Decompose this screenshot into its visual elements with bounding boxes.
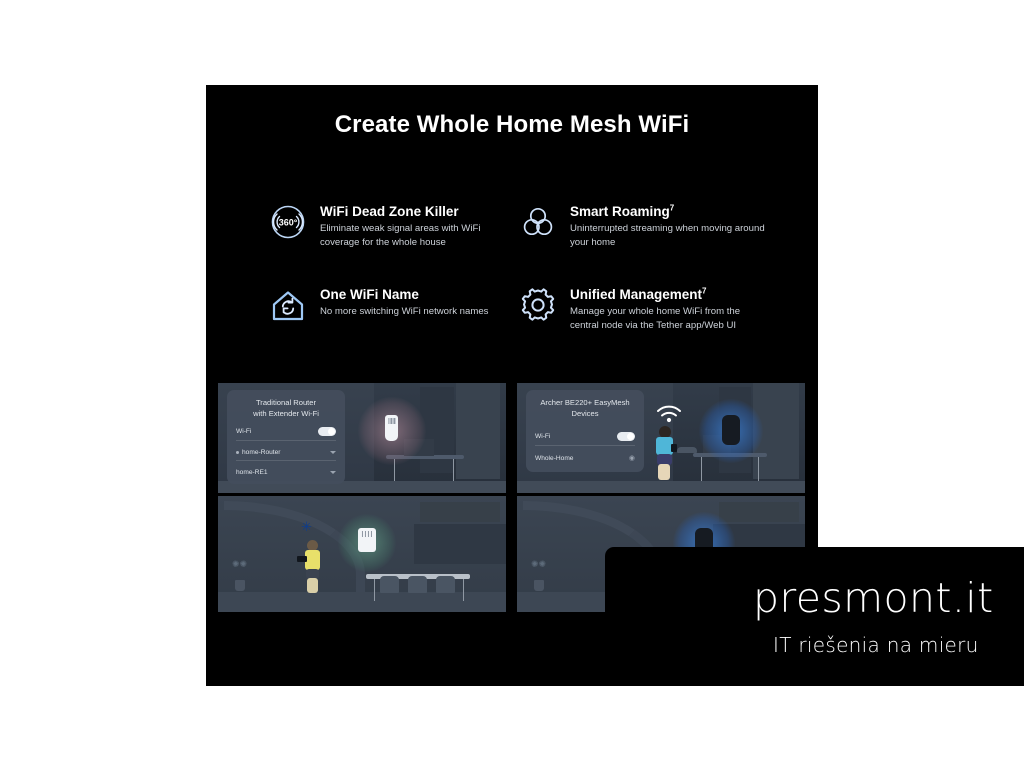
stool <box>677 447 697 453</box>
person-torso <box>305 550 320 570</box>
potted-plant: ✺✺ <box>232 558 248 592</box>
upper-cabinet <box>719 502 799 522</box>
potted-plant: ✺✺ <box>531 558 547 592</box>
kitchen-counter <box>414 524 506 564</box>
chair <box>436 576 455 593</box>
watermark-tagline: IT riešenia na mieru <box>773 633 979 657</box>
chevron-down-icon[interactable] <box>330 471 336 474</box>
feature-unified-management: Unified Management7 Manage your whole ho… <box>516 286 766 332</box>
feature-footnote: 7 <box>670 204 674 213</box>
feature-text: WiFi Dead Zone Killer Eliminate weak sig… <box>320 203 516 249</box>
feature-title: WiFi Dead Zone Killer <box>320 204 516 219</box>
feature-title: Unified Management7 <box>570 287 766 302</box>
feature-description: Eliminate weak signal areas with WiFi co… <box>320 222 516 249</box>
cabinet <box>456 383 500 479</box>
screenshot-canvas: Create Whole Home Mesh WiFi 360° <box>0 0 1024 768</box>
mesh-node-device <box>722 415 740 445</box>
tablet <box>297 556 307 562</box>
settings-card-easymesh[interactable]: Archer BE220+ EasyMesh Devices Wi-Fi Who… <box>526 390 644 472</box>
panel-traditional-router: Traditional Router with Extender Wi-Fi W… <box>218 383 506 612</box>
card-title: Archer BE220+ EasyMesh Devices <box>535 397 635 419</box>
range-extender-device <box>385 415 398 441</box>
upper-cabinet <box>420 502 500 522</box>
chair <box>408 576 427 593</box>
feature-text: Unified Management7 Manage your whole ho… <box>570 286 766 332</box>
scene-traditional-top: Traditional Router with Extender Wi-Fi W… <box>218 383 506 493</box>
network-name: home-Router <box>236 449 280 456</box>
feature-smart-roaming: Smart Roaming7 Uninterrupted streaming w… <box>516 203 766 249</box>
house-sync-icon <box>266 283 310 327</box>
feature-text: Smart Roaming7 Uninterrupted streaming w… <box>570 203 766 249</box>
feature-one-wifi-name: One WiFi Name No more switching WiFi net… <box>266 286 516 332</box>
feature-row: One WiFi Name No more switching WiFi net… <box>266 286 766 332</box>
feature-description: Manage your whole home WiFi from the cen… <box>570 305 766 332</box>
feature-grid: 360° WiFi Dead Zone Killer Eliminate wea… <box>266 203 766 333</box>
network-row[interactable]: home-Router <box>236 449 336 461</box>
feature-title: Smart Roaming7 <box>570 204 766 219</box>
page-title: Create Whole Home Mesh WiFi <box>206 111 818 139</box>
wifi-signal-icon: ◉ <box>629 454 635 462</box>
wifi-toggle[interactable] <box>318 427 336 436</box>
feature-title: One WiFi Name <box>320 287 488 302</box>
network-name: Whole-Home <box>535 455 573 462</box>
feature-wifi-dead-zone-killer: 360° WiFi Dead Zone Killer Eliminate wea… <box>266 203 516 249</box>
no-signal-burst-icon: ✳ <box>301 520 312 533</box>
network-name: home-RE1 <box>236 469 268 476</box>
person-with-tablet: ✳ <box>302 532 324 598</box>
smart-roaming-trefoil-icon <box>516 200 560 244</box>
watermark-brand: presmont.it <box>753 574 994 622</box>
person-legs <box>307 578 318 593</box>
device-antenna-slots <box>388 418 395 424</box>
router-device <box>358 528 376 552</box>
wifi-signal-icon <box>655 405 683 428</box>
wifi-toggle-row[interactable]: Wi-Fi <box>236 427 336 441</box>
wifi-label: Wi-Fi <box>535 433 550 440</box>
scene-easymesh-top: Archer BE220+ EasyMesh Devices Wi-Fi Who… <box>517 383 805 493</box>
feature-row: 360° WiFi Dead Zone Killer Eliminate wea… <box>266 203 766 249</box>
gear-icon <box>516 283 560 327</box>
chair <box>380 576 399 593</box>
watermark-overlay: presmont.it IT riešenia na mieru <box>605 547 1024 686</box>
wifi-360-icon: 360° <box>266 200 310 244</box>
feature-description: No more switching WiFi network names <box>320 305 488 319</box>
person-seated-with-phone <box>653 419 679 485</box>
wifi-toggle-row[interactable]: Wi-Fi <box>535 432 635 446</box>
wifi-label: Wi-Fi <box>236 428 251 435</box>
feature-description: Uninterrupted streaming when moving arou… <box>570 222 766 249</box>
settings-card-traditional[interactable]: Traditional Router with Extender Wi-Fi W… <box>227 390 345 484</box>
network-row[interactable]: home-RE1 <box>236 469 336 480</box>
card-title: Traditional Router with Extender Wi-Fi <box>236 397 336 419</box>
person-legs <box>658 464 670 480</box>
feature-footnote: 7 <box>702 287 706 296</box>
feature-text: One WiFi Name No more switching WiFi net… <box>320 286 488 319</box>
chevron-down-icon[interactable] <box>330 451 336 454</box>
scene-traditional-bottom: ✳ ✺✺ <box>218 496 506 612</box>
network-row[interactable]: Whole-Home ◉ <box>535 454 635 466</box>
device-antenna-slots <box>362 531 372 537</box>
svg-text:360°: 360° <box>279 217 298 227</box>
wifi-toggle[interactable] <box>617 432 635 441</box>
